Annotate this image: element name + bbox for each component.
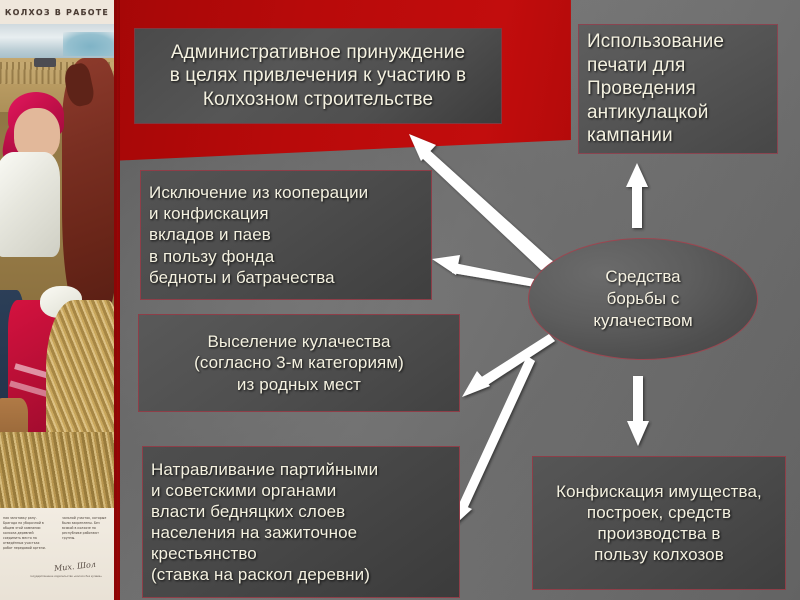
box-line: вкладов и паев	[149, 224, 423, 245]
box-line: Колхозном строительстве	[141, 88, 495, 112]
box-incitement-by-party-organs[interactable]: Натравливание партийными и советскими ор…	[142, 446, 460, 598]
box-line: (согласно 3-м категориям)	[145, 352, 453, 373]
box-line: Использование	[587, 30, 769, 54]
box-line: Проведения	[587, 77, 769, 101]
box-eviction-of-kulaks[interactable]: Выселение кулачества (согласно 3-м катег…	[138, 314, 460, 412]
arrow-to-confiscation-of-property-icon	[627, 376, 649, 446]
arrow-to-eviction-of-kulaks-icon	[462, 334, 555, 397]
center-node-line: Средства	[605, 266, 680, 288]
box-line: антикулацкой	[587, 101, 769, 125]
box-line: населения на зажиточное	[151, 522, 451, 543]
box-line: построек, средств	[539, 502, 779, 523]
box-line: Конфискация имущества,	[539, 481, 779, 502]
box-line: Административное принуждение	[141, 41, 495, 65]
box-line: пользу колхозов	[539, 544, 779, 565]
box-line: бедноты и батрачества	[149, 267, 423, 288]
box-administrative-coercion[interactable]: Административное принуждение в целях при…	[134, 28, 502, 124]
box-line: в пользу фонда	[149, 246, 423, 267]
box-exclusion-from-cooperation[interactable]: Исключение из кооперации и конфискация в…	[140, 170, 432, 300]
box-line: из родных мест	[145, 374, 453, 395]
box-line: власти бедняцких слоев	[151, 501, 451, 522]
box-line: Натравливание партийными	[151, 459, 451, 480]
arrow-to-press-campaign-icon	[626, 163, 648, 228]
arrow-to-exclusion-from-cooperation-icon	[432, 255, 535, 287]
box-line: и конфискация	[149, 203, 423, 224]
box-press-campaign[interactable]: Использование печати для Проведения анти…	[578, 24, 778, 154]
box-line: в целях привлечения к участию в	[141, 64, 495, 88]
center-node-line: кулачеством	[593, 310, 692, 332]
box-line: производства в	[539, 523, 779, 544]
box-line: (ставка на раскол деревни)	[151, 564, 451, 585]
box-line: Исключение из кооперации	[149, 182, 423, 203]
box-line: крестьянство	[151, 543, 451, 564]
box-confiscation-of-property[interactable]: Конфискация имущества, построек, средств…	[532, 456, 786, 590]
box-line: печати для	[587, 54, 769, 78]
box-line: и советскими органами	[151, 480, 451, 501]
presentation-slide: КОЛХОЗ В РАБОТЕ ная заготовку рапу. Бриг…	[0, 0, 800, 600]
box-line: Выселение кулачества	[145, 331, 453, 352]
box-line: кампании	[587, 124, 769, 148]
center-node-line: борьбы с	[607, 288, 680, 310]
center-node-means-of-struggle[interactable]: Средства борьбы с кулачеством	[528, 238, 758, 360]
poster-title: КОЛХОЗ В РАБОТЕ	[0, 8, 114, 17]
